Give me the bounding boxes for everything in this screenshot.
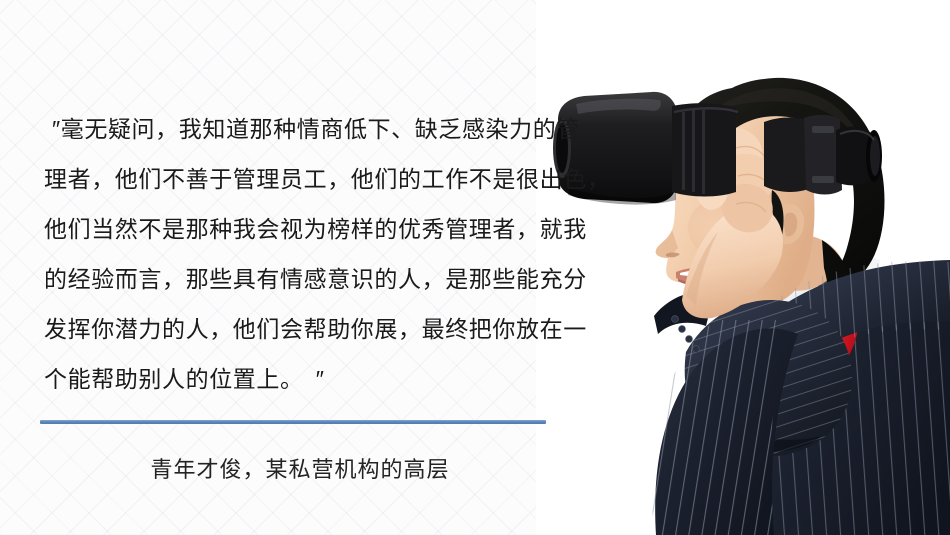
quote-line-6: 个能帮助别人的位置上。 ″: [44, 354, 554, 404]
quote-attribution: 青年才俊，某私营机构的高层: [40, 452, 560, 484]
quote-line-4: 的经验而言，那些具有情感意识的人，是那些能充分: [44, 254, 554, 304]
quote-line-3: 他们当然不是那种我会视为榜样的优秀管理者，就我: [44, 204, 554, 254]
slide-canvas: ″毫无疑问，我知道那种情商低下、缺乏感染力的管 理者，他们不善于管理员工，他们的…: [0, 0, 950, 535]
horizontal-divider: [40, 420, 546, 424]
quote-text-block: ″毫无疑问，我知道那种情商低下、缺乏感染力的管 理者，他们不善于管理员工，他们的…: [44, 104, 554, 404]
quote-line-1: ″毫无疑问，我知道那种情商低下、缺乏感染力的管: [44, 104, 554, 154]
quote-line-5: 发挥你潜力的人，他们会帮助你展，最终把你放在一: [44, 304, 554, 354]
quote-line-2: 理者，他们不善于管理员工，他们的工作不是很出色，: [44, 154, 554, 204]
businessman-binoculars-photo: [536, 0, 950, 535]
